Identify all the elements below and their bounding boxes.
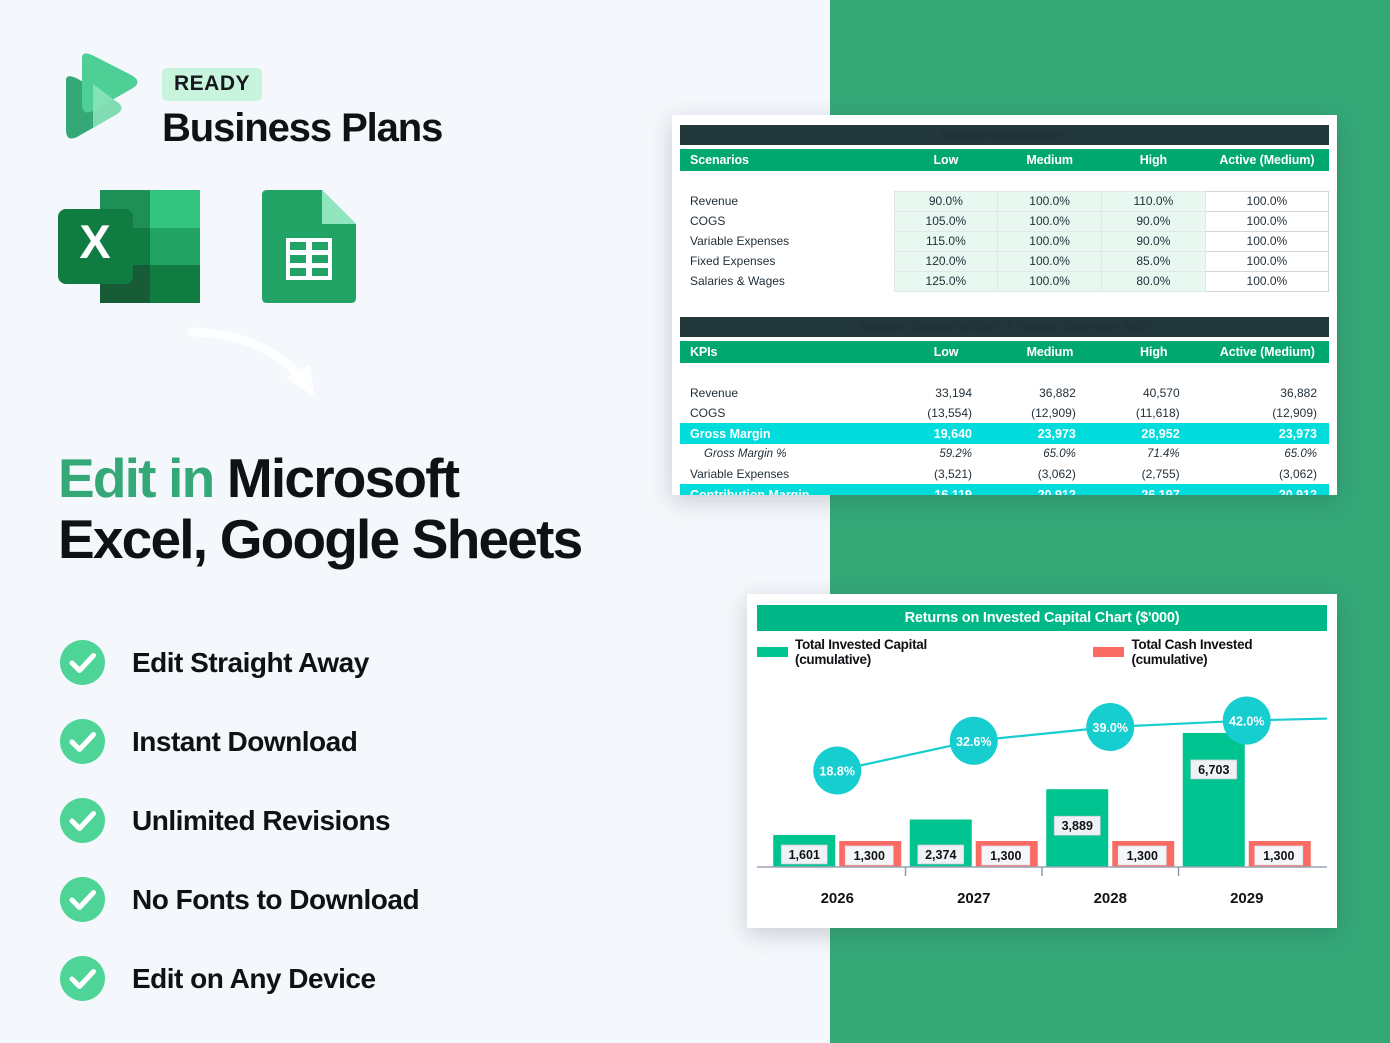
table-row: COGS (13,554) (12,909) (11,618) (12,909) bbox=[680, 403, 1329, 423]
svg-text:42.0%: 42.0% bbox=[1229, 715, 1264, 729]
check-circle-icon bbox=[60, 719, 105, 764]
cell-medium: 100.0% bbox=[998, 211, 1102, 231]
row-label: Fixed Expenses bbox=[680, 251, 894, 271]
cell-medium: (3,062) bbox=[998, 464, 1102, 484]
col-high: High bbox=[1102, 341, 1206, 363]
roic-chart-svg: 1,6011,3002,3741,3003,8891,3006,7031,300… bbox=[757, 671, 1327, 928]
check-circle-icon bbox=[60, 798, 105, 843]
scenario-multiplicators-table: Scenario Multiplicators bbox=[680, 125, 1329, 145]
feature-label: Edit Straight Away bbox=[132, 647, 369, 679]
cell-low: 19,640 bbox=[894, 423, 998, 444]
cell-high: 26,197 bbox=[1102, 484, 1206, 495]
svg-text:3,889: 3,889 bbox=[1062, 819, 1093, 833]
cell-low: 115.0% bbox=[894, 231, 998, 251]
legend-swatch-icon bbox=[757, 647, 788, 657]
scenario-outputs-table: Scenario Outputs ($'000) - 5 Years to De… bbox=[680, 317, 1329, 337]
row-label: Gross Margin bbox=[680, 423, 894, 444]
cell-low: 33,194 bbox=[894, 383, 998, 403]
cell-medium: 100.0% bbox=[998, 271, 1102, 291]
cell-active: (12,909) bbox=[1206, 403, 1329, 423]
row-label: Gross Margin % bbox=[680, 444, 894, 464]
feature-label: Unlimited Revisions bbox=[132, 805, 390, 837]
table-row-contribution-margin: Contribution Margin 16,119 20,912 26,197… bbox=[680, 484, 1329, 495]
row-label: COGS bbox=[680, 211, 894, 231]
cell-high: (2,755) bbox=[1102, 464, 1206, 484]
table-header-row: Scenarios Low Medium High Active (Medium… bbox=[680, 149, 1329, 171]
col-scenarios: Scenarios bbox=[680, 149, 894, 171]
check-circle-icon bbox=[60, 640, 105, 685]
table-row: Salaries & Wages 125.0% 100.0% 80.0% 100… bbox=[680, 271, 1329, 291]
svg-text:1,601: 1,601 bbox=[789, 848, 820, 862]
chart-legend: Total Invested Capital (cumulative) Tota… bbox=[757, 637, 1327, 667]
scenario-table-card: Scenario Multiplicators Scenarios Low Me… bbox=[672, 115, 1337, 495]
cell-high: 110.0% bbox=[1102, 191, 1206, 211]
roic-chart-card: Returns on Invested Capital Chart ($'000… bbox=[747, 594, 1337, 928]
svg-text:39.0%: 39.0% bbox=[1093, 721, 1128, 735]
spacer bbox=[680, 171, 1329, 191]
app-icons-group: X bbox=[58, 190, 356, 303]
cell-active: 36,882 bbox=[1206, 383, 1329, 403]
cell-low: (13,554) bbox=[894, 403, 998, 423]
page-title-line2: Excel, Google Sheets bbox=[58, 508, 581, 570]
col-active: Active (Medium) bbox=[1205, 149, 1328, 171]
cell-high: 90.0% bbox=[1102, 211, 1206, 231]
check-circle-icon bbox=[60, 877, 105, 922]
list-item: No Fonts to Download bbox=[60, 860, 419, 939]
feature-label: Edit on Any Device bbox=[132, 963, 376, 995]
list-item: Edit Straight Away bbox=[60, 623, 419, 702]
page-title: Edit in Microsoft Excel, Google Sheets bbox=[58, 448, 778, 570]
feature-label: Instant Download bbox=[132, 726, 357, 758]
cell-medium: 23,973 bbox=[998, 423, 1102, 444]
microsoft-excel-icon: X bbox=[58, 190, 200, 303]
cell-active[interactable]: 100.0% bbox=[1205, 191, 1328, 211]
cell-active: (3,062) bbox=[1206, 464, 1329, 484]
cell-high: 28,952 bbox=[1102, 423, 1206, 444]
col-medium: Medium bbox=[998, 341, 1102, 363]
svg-text:2026: 2026 bbox=[821, 890, 854, 907]
table-header-row: KPIs Low Medium High Active (Medium) bbox=[680, 341, 1329, 363]
svg-text:X: X bbox=[79, 215, 110, 268]
table-row: Revenue 33,194 36,882 40,570 36,882 bbox=[680, 383, 1329, 403]
feature-label: No Fonts to Download bbox=[132, 884, 419, 916]
cell-medium: 20,912 bbox=[998, 484, 1102, 495]
col-medium: Medium bbox=[998, 149, 1102, 171]
google-sheets-icon bbox=[262, 190, 356, 303]
svg-text:1,300: 1,300 bbox=[1127, 849, 1158, 863]
cell-medium: 100.0% bbox=[998, 251, 1102, 271]
cell-low: 16,119 bbox=[894, 484, 998, 495]
svg-text:1,300: 1,300 bbox=[990, 849, 1021, 863]
brand-text-block: READY Business Plans bbox=[162, 52, 442, 148]
cell-active[interactable]: 100.0% bbox=[1205, 271, 1328, 291]
list-item: Instant Download bbox=[60, 702, 419, 781]
cell-medium: 65.0% bbox=[998, 444, 1102, 464]
svg-text:1,300: 1,300 bbox=[854, 849, 885, 863]
ready-badge: READY bbox=[162, 68, 262, 101]
chart-title: Returns on Invested Capital Chart ($'000… bbox=[757, 605, 1327, 631]
cell-active: 65.0% bbox=[1206, 444, 1329, 464]
table-row: Gross Margin % 59.2% 65.0% 71.4% 65.0% bbox=[680, 444, 1329, 464]
svg-text:6,703: 6,703 bbox=[1198, 763, 1229, 777]
cell-high: 71.4% bbox=[1102, 444, 1206, 464]
svg-text:2027: 2027 bbox=[957, 890, 990, 907]
cell-low: 59.2% bbox=[894, 444, 998, 464]
feature-list: Edit Straight Away Instant Download Unli… bbox=[60, 623, 419, 1018]
col-high: High bbox=[1102, 149, 1206, 171]
cell-active[interactable]: 100.0% bbox=[1205, 231, 1328, 251]
cell-high: 90.0% bbox=[1102, 231, 1206, 251]
legend-item-invested-capital[interactable]: Total Invested Capital (cumulative) bbox=[757, 637, 1001, 667]
cell-low: 105.0% bbox=[894, 211, 998, 231]
row-label: Revenue bbox=[680, 191, 894, 211]
cell-active[interactable]: 100.0% bbox=[1205, 251, 1328, 271]
cell-high: 85.0% bbox=[1102, 251, 1206, 271]
cell-low: 120.0% bbox=[894, 251, 998, 271]
row-label: Revenue bbox=[680, 383, 894, 403]
multipliers-banner: Scenario Multiplicators bbox=[680, 125, 1329, 145]
cell-medium: 100.0% bbox=[998, 191, 1102, 211]
table-row: Variable Expenses (3,521) (3,062) (2,755… bbox=[680, 464, 1329, 484]
cell-high: 80.0% bbox=[1102, 271, 1206, 291]
row-label: Contribution Margin bbox=[680, 484, 894, 495]
svg-text:2029: 2029 bbox=[1230, 890, 1263, 907]
page-title-rest: Microsoft bbox=[213, 447, 458, 509]
cell-low: (3,521) bbox=[894, 464, 998, 484]
outputs-banner: Scenario Outputs ($'000) - 5 Years to De… bbox=[680, 317, 1329, 337]
table-row: COGS 105.0% 100.0% 90.0% 100.0% bbox=[680, 211, 1329, 231]
svg-text:2,374: 2,374 bbox=[925, 848, 956, 862]
col-low: Low bbox=[894, 341, 998, 363]
cell-active[interactable]: 100.0% bbox=[1205, 211, 1328, 231]
list-item: Unlimited Revisions bbox=[60, 781, 419, 860]
svg-text:32.6%: 32.6% bbox=[956, 735, 991, 749]
legend-label: Total Cash Invested (cumulative) bbox=[1131, 637, 1327, 667]
cell-high: (11,618) bbox=[1102, 403, 1206, 423]
legend-swatch-icon bbox=[1093, 647, 1124, 657]
spacer bbox=[680, 291, 1329, 311]
cell-high: 40,570 bbox=[1102, 383, 1206, 403]
cell-medium: 36,882 bbox=[998, 383, 1102, 403]
col-active: Active (Medium) bbox=[1206, 341, 1329, 363]
cell-medium: (12,909) bbox=[998, 403, 1102, 423]
outputs-grid: KPIs Low Medium High Active (Medium) Rev… bbox=[680, 341, 1329, 495]
cell-active: 20,912 bbox=[1206, 484, 1329, 495]
cell-medium: 100.0% bbox=[998, 231, 1102, 251]
play-triangle-logo-icon bbox=[60, 52, 142, 144]
row-label: Variable Expenses bbox=[680, 231, 894, 251]
table-row: Fixed Expenses 120.0% 100.0% 85.0% 100.0… bbox=[680, 251, 1329, 271]
legend-item-cash-invested[interactable]: Total Cash Invested (cumulative) bbox=[1093, 637, 1327, 667]
table-row: Revenue 90.0% 100.0% 110.0% 100.0% bbox=[680, 191, 1329, 211]
page-title-accent: Edit in bbox=[58, 447, 213, 509]
legend-label: Total Invested Capital (cumulative) bbox=[795, 637, 1001, 667]
check-circle-icon bbox=[60, 956, 105, 1001]
row-label: Salaries & Wages bbox=[680, 271, 894, 291]
spacer bbox=[680, 363, 1329, 383]
row-label: COGS bbox=[680, 403, 894, 423]
list-item: Edit on Any Device bbox=[60, 939, 419, 1018]
cell-active: 23,973 bbox=[1206, 423, 1329, 444]
svg-text:2028: 2028 bbox=[1094, 890, 1127, 907]
row-label: Variable Expenses bbox=[680, 464, 894, 484]
svg-text:1,300: 1,300 bbox=[1263, 849, 1294, 863]
table-row: Variable Expenses 115.0% 100.0% 90.0% 10… bbox=[680, 231, 1329, 251]
multipliers-grid: Scenarios Low Medium High Active (Medium… bbox=[680, 149, 1329, 311]
col-low: Low bbox=[894, 149, 998, 171]
curved-arrow-icon bbox=[186, 326, 376, 422]
brand-header: READY Business Plans bbox=[60, 52, 442, 148]
svg-text:18.8%: 18.8% bbox=[820, 765, 855, 779]
cell-low: 125.0% bbox=[894, 271, 998, 291]
table-row-gross-margin: Gross Margin 19,640 23,973 28,952 23,973 bbox=[680, 423, 1329, 444]
col-kpis: KPIs bbox=[680, 341, 894, 363]
cell-low: 90.0% bbox=[894, 191, 998, 211]
brand-name: Business Plans bbox=[162, 108, 442, 148]
chart-plot-area: 1,6011,3002,3741,3003,8891,3006,7031,300… bbox=[757, 671, 1327, 928]
